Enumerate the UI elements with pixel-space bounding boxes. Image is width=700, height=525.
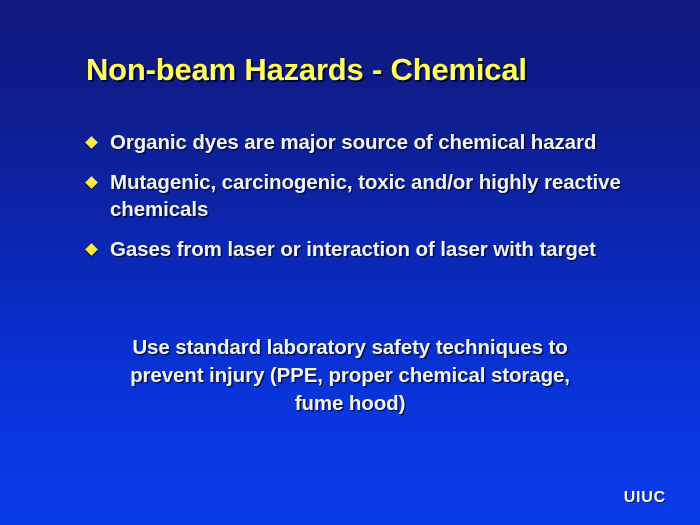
list-item-label: Mutagenic, carcinogenic, toxic and/or hi…: [110, 171, 621, 221]
list-item-label: Gases from laser or interaction of laser…: [110, 238, 596, 261]
diamond-bullet-icon: [85, 136, 98, 149]
diamond-bullet-icon: [85, 243, 98, 256]
bullet-list: Organic dyes are major source of chemica…: [86, 129, 626, 276]
list-item: Gases from laser or interaction of laser…: [86, 236, 626, 263]
list-item-label: Organic dyes are major source of chemica…: [110, 131, 596, 154]
closing-statement: Use standard laboratory safety technique…: [70, 334, 630, 418]
footer-logo: UIUC: [624, 489, 666, 507]
closing-line-1: Use standard laboratory safety technique…: [70, 334, 630, 362]
diamond-bullet-icon: [85, 176, 98, 189]
presentation-slide: Non-beam Hazards - Chemical Organic dyes…: [0, 0, 700, 525]
slide-title: Non-beam Hazards - Chemical: [86, 52, 646, 88]
closing-line-3: fume hood): [70, 390, 630, 418]
list-item: Organic dyes are major source of chemica…: [86, 129, 626, 156]
closing-line-2: prevent injury (PPE, proper chemical sto…: [70, 362, 630, 390]
list-item: Mutagenic, carcinogenic, toxic and/or hi…: [86, 169, 626, 223]
